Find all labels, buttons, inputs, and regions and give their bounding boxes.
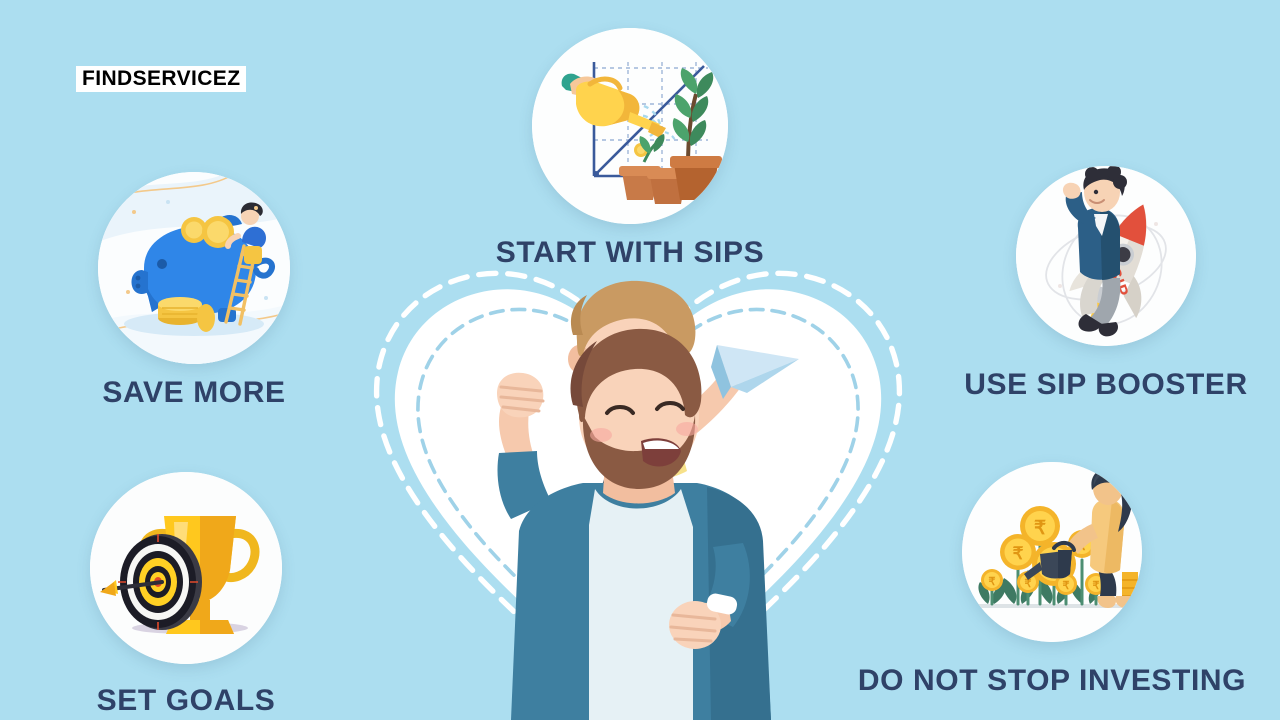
brand-logo: FINDSERVICEZ — [76, 66, 246, 92]
feature-use-sip-booster[interactable]: SIP — [1016, 166, 1196, 402]
svg-text:₹: ₹ — [1013, 544, 1024, 563]
father-and-son-illustration — [455, 275, 825, 720]
watering-can-growing-plants-chart-icon[interactable] — [532, 28, 728, 224]
feature-label: USE SIP BOOSTER — [926, 368, 1280, 402]
rupee-symbol: ₹ — [1034, 518, 1046, 539]
svg-text:₹: ₹ — [1093, 580, 1100, 592]
trophy-and-target-icon[interactable] — [90, 472, 282, 664]
svg-text:₹: ₹ — [1063, 580, 1070, 592]
feature-set-goals[interactable]: SET GOALS — [90, 472, 282, 718]
feature-label: START WITH SIPS — [472, 236, 788, 270]
feature-save-more[interactable]: SAVE MORE — [98, 172, 290, 410]
feature-label: SET GOALS — [50, 684, 322, 718]
piggy-bank-with-coins-icon[interactable] — [98, 172, 290, 364]
paper-airplane-icon — [711, 345, 799, 399]
feature-do-not-stop-investing[interactable]: ₹ ₹ ₹ ₹ — [962, 462, 1142, 698]
woman-watering-money-plants-icon[interactable]: ₹ ₹ ₹ ₹ — [962, 462, 1142, 642]
infographic-canvas: FINDSERVICEZ — [0, 0, 1280, 720]
feature-label: DO NOT STOP INVESTING — [812, 664, 1280, 698]
feature-label: SAVE MORE — [58, 376, 330, 410]
man-riding-sip-rocket-icon[interactable]: SIP — [1016, 166, 1196, 346]
brand-name: FINDSERVICEZ — [82, 68, 240, 89]
feature-start-with-sips[interactable]: START WITH SIPS — [532, 28, 728, 270]
svg-text:₹: ₹ — [989, 576, 996, 588]
